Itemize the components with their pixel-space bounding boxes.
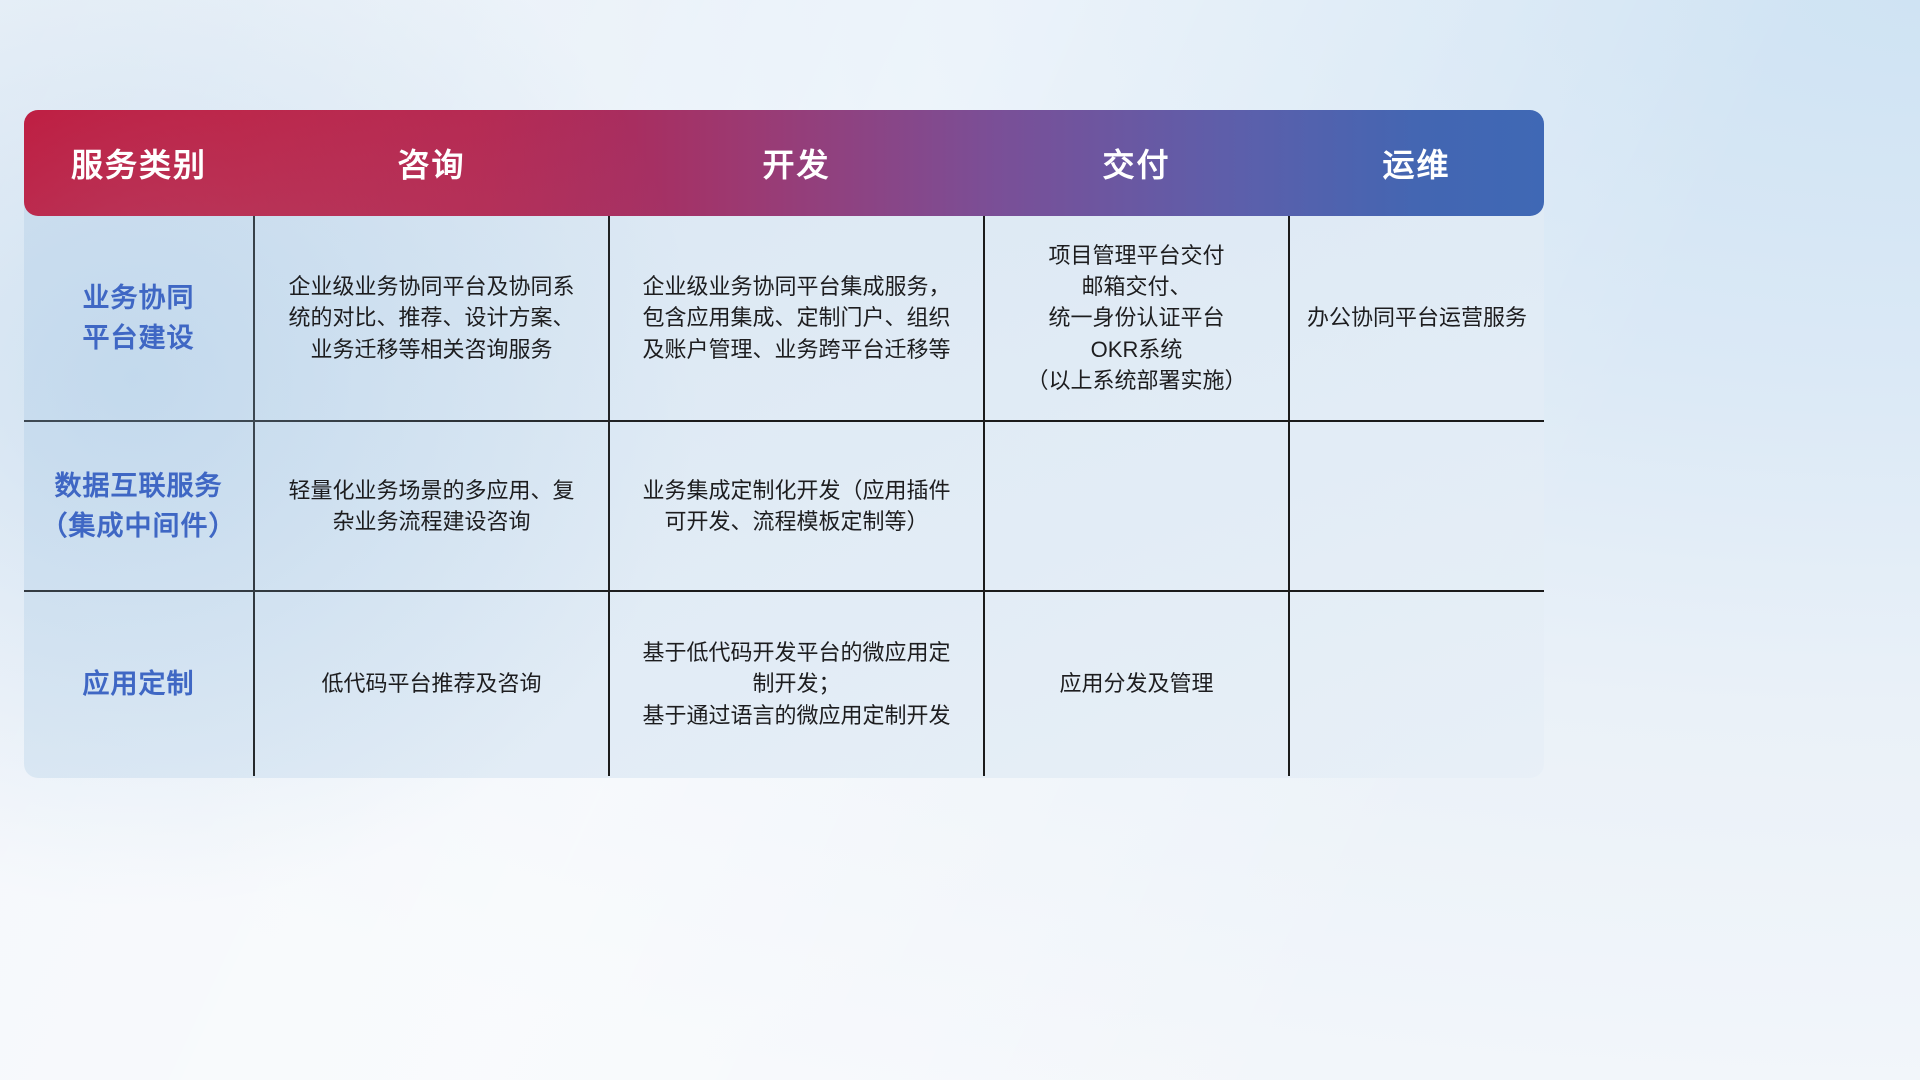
header-cell-development: 开发 — [609, 110, 984, 216]
cell-consulting-row1: 企业级业务协同平台及协同系 统的对比、推荐、设计方案、 业务迁移等相关咨询服务 — [254, 216, 609, 421]
text-line: 统一身份认证平台 — [1001, 302, 1272, 333]
cell-delivery-row3: 应用分发及管理 — [984, 591, 1289, 776]
table-row: 应用定制 低代码平台推荐及咨询 基于低代码开发平台的微应用定 制开发； 基于通过… — [24, 591, 1544, 776]
text-line: 企业级业务协同平台及协同系 — [271, 271, 592, 302]
text-line: 邮箱交付、 — [1001, 271, 1272, 302]
text-line: 企业级业务协同平台集成服务， — [626, 271, 967, 302]
service-matrix-container: 服务类别 咨询 开发 交付 运维 业务协同 平台建设 企业级业务协同平台及协同系… — [24, 110, 1544, 778]
text-line: 制开发； — [626, 668, 967, 699]
text-line: 办公协同平台运营服务 — [1306, 302, 1528, 333]
text-line: （以上系统部署实施） — [1001, 365, 1272, 396]
category-line: （集成中间件） — [40, 506, 237, 547]
text-line: 基于通过语言的微应用定制开发 — [626, 700, 967, 731]
category-line: 平台建设 — [40, 318, 237, 359]
cell-delivery-row2 — [984, 421, 1289, 591]
table-row: 数据互联服务 （集成中间件） 轻量化业务场景的多应用、复 杂业务流程建设咨询 业… — [24, 421, 1544, 591]
text-line: 业务迁移等相关咨询服务 — [271, 334, 592, 365]
table-header: 服务类别 咨询 开发 交付 运维 — [24, 110, 1544, 216]
text-line: 杂业务流程建设咨询 — [271, 506, 592, 537]
text-line: 轻量化业务场景的多应用、复 — [271, 475, 592, 506]
category-line: 业务协同 — [40, 278, 237, 319]
text-line: 业务集成定制化开发（应用插件 — [626, 475, 967, 506]
text-line: 统的对比、推荐、设计方案、 — [271, 302, 592, 333]
cell-ops-row2 — [1289, 421, 1544, 591]
category-line: 应用定制 — [40, 664, 237, 705]
header-cell-delivery: 交付 — [984, 110, 1289, 216]
text-line: 基于低代码开发平台的微应用定 — [626, 637, 967, 668]
text-line: 包含应用集成、定制门户、组织 — [626, 302, 967, 333]
cell-development-row3: 基于低代码开发平台的微应用定 制开发； 基于通过语言的微应用定制开发 — [609, 591, 984, 776]
text-line: 应用分发及管理 — [1001, 668, 1272, 699]
slide-canvas: 服务类别 咨询 开发 交付 运维 业务协同 平台建设 企业级业务协同平台及协同系… — [0, 0, 1920, 1080]
cell-category-row1: 业务协同 平台建设 — [24, 216, 254, 421]
cell-category-row3: 应用定制 — [24, 591, 254, 776]
cell-delivery-row1: 项目管理平台交付 邮箱交付、 统一身份认证平台 OKR系统 （以上系统部署实施） — [984, 216, 1289, 421]
text-line: 可开发、流程模板定制等） — [626, 506, 967, 537]
cell-development-row1: 企业级业务协同平台集成服务， 包含应用集成、定制门户、组织 及账户管理、业务跨平… — [609, 216, 984, 421]
header-cell-consulting: 咨询 — [254, 110, 609, 216]
cell-development-row2: 业务集成定制化开发（应用插件 可开发、流程模板定制等） — [609, 421, 984, 591]
cell-ops-row3 — [1289, 591, 1544, 776]
cell-category-row2: 数据互联服务 （集成中间件） — [24, 421, 254, 591]
service-matrix-table: 服务类别 咨询 开发 交付 运维 业务协同 平台建设 企业级业务协同平台及协同系… — [24, 110, 1544, 776]
category-line: 数据互联服务 — [40, 466, 237, 507]
table-row: 业务协同 平台建设 企业级业务协同平台及协同系 统的对比、推荐、设计方案、 业务… — [24, 216, 1544, 421]
table-body: 业务协同 平台建设 企业级业务协同平台及协同系 统的对比、推荐、设计方案、 业务… — [24, 216, 1544, 776]
text-line: 及账户管理、业务跨平台迁移等 — [626, 334, 967, 365]
header-cell-category: 服务类别 — [24, 110, 254, 216]
cell-ops-row1: 办公协同平台运营服务 — [1289, 216, 1544, 421]
text-line: 低代码平台推荐及咨询 — [271, 668, 592, 699]
text-line: 项目管理平台交付 — [1001, 240, 1272, 271]
header-cell-ops: 运维 — [1289, 110, 1544, 216]
table-header-row: 服务类别 咨询 开发 交付 运维 — [24, 110, 1544, 216]
cell-consulting-row3: 低代码平台推荐及咨询 — [254, 591, 609, 776]
cell-consulting-row2: 轻量化业务场景的多应用、复 杂业务流程建设咨询 — [254, 421, 609, 591]
text-line: OKR系统 — [1001, 334, 1272, 365]
